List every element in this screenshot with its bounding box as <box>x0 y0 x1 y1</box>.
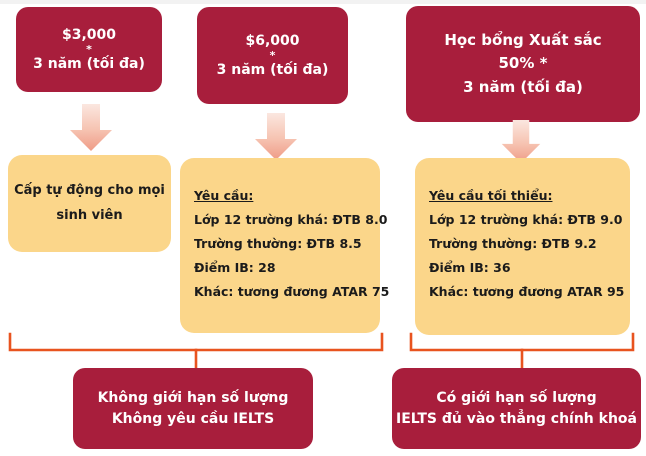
criteria-minimum-item-1: Lớp 12 trường khá: ĐTB 9.0 <box>429 212 616 227</box>
award-3000-line-3: 3 năm (tối đa) <box>33 55 145 73</box>
top-divider-bar <box>0 0 646 4</box>
outcome-unlimited-line-2: Không yêu cầu IELTS <box>112 409 274 430</box>
outcome-unlimited-line-1: Không giới hạn số lượng <box>98 388 289 409</box>
arrow-down-2 <box>253 113 299 161</box>
diagram-canvas: $3,000 * 3 năm (tối đa) $6,000 * 3 năm (… <box>0 0 646 456</box>
award-6000-line-3: 3 năm (tối đa) <box>217 61 329 79</box>
award-3000-line-2: * <box>86 44 92 55</box>
outcome-limited-line-2: IELTS đủ vào thẳng chính khoá <box>396 409 637 430</box>
award-3000-line-1: $3,000 <box>62 26 116 44</box>
award-excellence-line-1: Học bổng Xuất sắc <box>444 29 601 52</box>
award-6000-line-1: $6,000 <box>245 32 299 50</box>
criteria-minimum-card: Yêu cầu tối thiểu: Lớp 12 trường khá: ĐT… <box>415 158 630 335</box>
criteria-requirements-item-1: Lớp 12 trường khá: ĐTB 8.0 <box>194 212 366 227</box>
outcome-limited-card: Có giới hạn số lượng IELTS đủ vào thẳng … <box>392 368 641 449</box>
criteria-requirements-item-2: Trường thường: ĐTB 8.5 <box>194 236 366 251</box>
bracket-right <box>405 332 641 372</box>
bracket-left <box>4 332 389 372</box>
award-6000-line-2: * <box>270 50 276 61</box>
criteria-requirements-item-4: Khác: tương đương ATAR 75 <box>194 284 366 299</box>
criteria-requirements-card: Yêu cầu: Lớp 12 trường khá: ĐTB 8.0 Trườ… <box>180 158 380 333</box>
award-6000-card: $6,000 * 3 năm (tối đa) <box>197 7 348 104</box>
criteria-automatic-line-1: Cấp tự động cho mọi <box>14 179 165 203</box>
award-3000-card: $3,000 * 3 năm (tối đa) <box>16 7 162 92</box>
criteria-automatic-line-2: sinh viên <box>56 204 122 228</box>
outcome-unlimited-card: Không giới hạn số lượng Không yêu cầu IE… <box>73 368 313 449</box>
criteria-minimum-item-2: Trường thường: ĐTB 9.2 <box>429 236 616 251</box>
criteria-automatic-card: Cấp tự động cho mọi sinh viên <box>8 155 171 252</box>
outcome-limited-line-1: Có giới hạn số lượng <box>436 388 596 409</box>
award-excellence-line-2: 50% * <box>499 52 548 75</box>
criteria-minimum-heading: Yêu cầu tối thiểu: <box>429 188 616 203</box>
criteria-requirements-item-3: Điểm IB: 28 <box>194 260 366 275</box>
criteria-requirements-heading: Yêu cầu: <box>194 188 366 203</box>
criteria-minimum-item-4: Khác: tương đương ATAR 95 <box>429 284 616 299</box>
award-excellence-card: Học bổng Xuất sắc 50% * 3 năm (tối đa) <box>406 6 640 122</box>
criteria-minimum-item-3: Điểm IB: 36 <box>429 260 616 275</box>
arrow-down-1 <box>68 104 114 152</box>
award-excellence-line-3: 3 năm (tối đa) <box>463 76 583 99</box>
